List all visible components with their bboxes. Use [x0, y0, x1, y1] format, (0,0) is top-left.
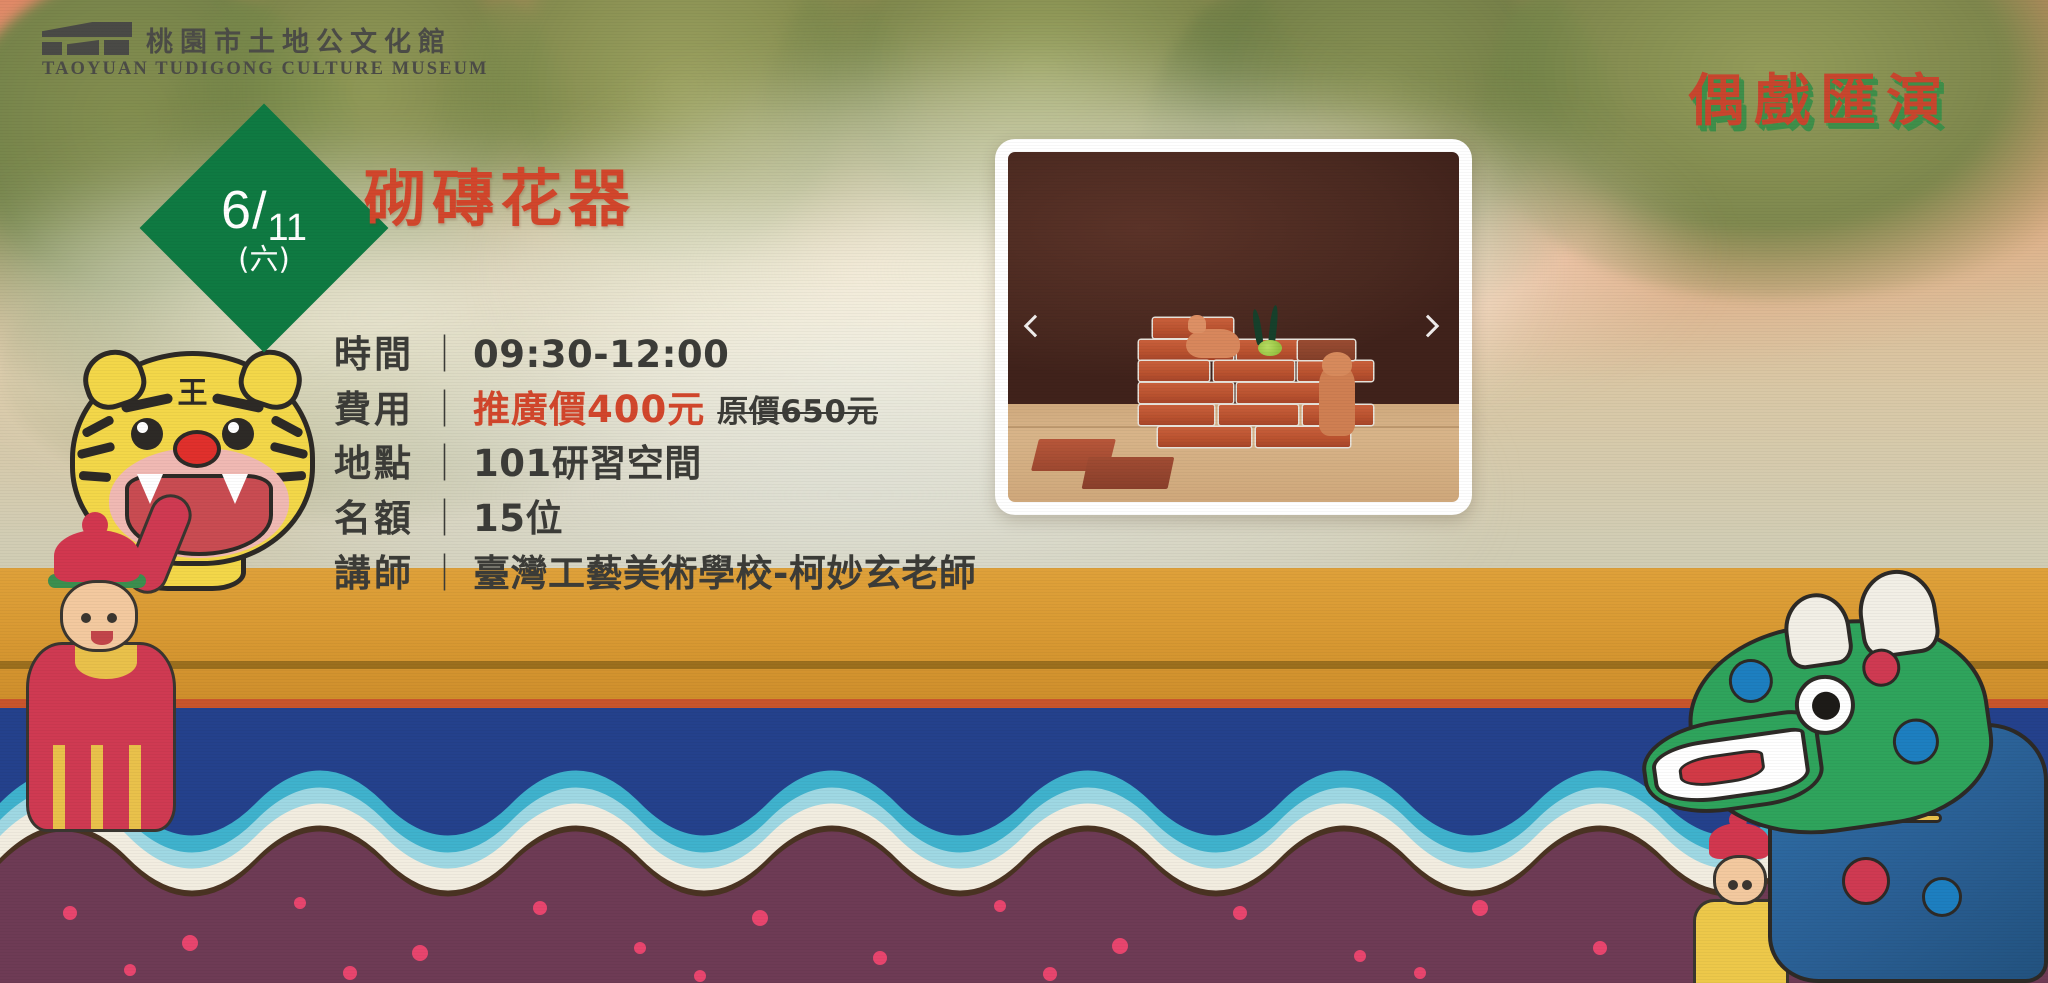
carousel-photo	[1008, 152, 1459, 502]
detail-value: 101研習空間	[473, 442, 702, 486]
detail-value: 09:30-12:00	[473, 333, 729, 377]
detail-separator: ｜	[426, 388, 463, 432]
detail-separator: ｜	[426, 497, 463, 541]
detail-row-time: 時間 ｜ 09:30-12:00	[334, 333, 976, 377]
detail-separator: ｜	[426, 552, 463, 596]
banner-root: 桃園市土地公文化館 TAOYUAN TUDIGONG CULTURE MUSEU…	[0, 0, 2048, 983]
event-details-list: 時間 ｜ 09:30-12:00 費用 ｜ 推廣價400元 原價650元 地點 …	[334, 333, 976, 595]
child-mascot-red	[10, 530, 200, 830]
tiger-forehead-mark: 王	[178, 368, 208, 412]
dragon-lion-dance-mascot	[1628, 543, 2048, 983]
logo-top-row: 桃園市土地公文化館	[42, 22, 489, 56]
clay-cat-sitting	[1319, 363, 1354, 436]
detail-label: 名額	[334, 497, 414, 541]
promo-price: 推廣價400元	[473, 388, 705, 432]
brick-planter	[1139, 285, 1374, 467]
clay-cat-lying	[1186, 329, 1240, 358]
detail-value: 15位	[473, 497, 563, 541]
photo-carousel[interactable]	[995, 139, 1472, 515]
succulent-plant	[1258, 340, 1281, 356]
loose-brick	[1081, 457, 1173, 489]
logo-name-en: TAOYUAN TUDIGONG CULTURE MUSEUM	[42, 59, 489, 80]
detail-row-location: 地點 ｜ 101研習空間	[334, 442, 976, 486]
detail-label: 費用	[334, 388, 414, 432]
detail-separator: ｜	[426, 442, 463, 486]
original-price: 原價650元	[717, 394, 878, 431]
detail-label: 地點	[334, 442, 414, 486]
detail-value: 臺灣工藝美術學校-柯妙玄老師	[473, 552, 976, 596]
detail-row-fee: 費用 ｜ 推廣價400元 原價650元	[334, 388, 976, 432]
detail-separator: ｜	[426, 333, 463, 377]
chevron-right-icon[interactable]	[1416, 310, 1450, 344]
logo-name-cn: 桃園市土地公文化館	[146, 29, 452, 56]
detail-row-instructor: 講師 ｜ 臺灣工藝美術學校-柯妙玄老師	[334, 552, 976, 596]
event-title: 砌磚花器	[364, 148, 636, 238]
detail-row-quota: 名額 ｜ 15位	[334, 497, 976, 541]
campaign-title: 偶戲匯演	[1688, 56, 1952, 137]
detail-label: 時間	[334, 333, 414, 377]
museum-building-icon	[42, 22, 132, 56]
detail-label: 講師	[334, 552, 414, 596]
chevron-left-icon[interactable]	[1017, 310, 1051, 344]
museum-logo[interactable]: 桃園市土地公文化館 TAOYUAN TUDIGONG CULTURE MUSEU…	[42, 22, 489, 80]
